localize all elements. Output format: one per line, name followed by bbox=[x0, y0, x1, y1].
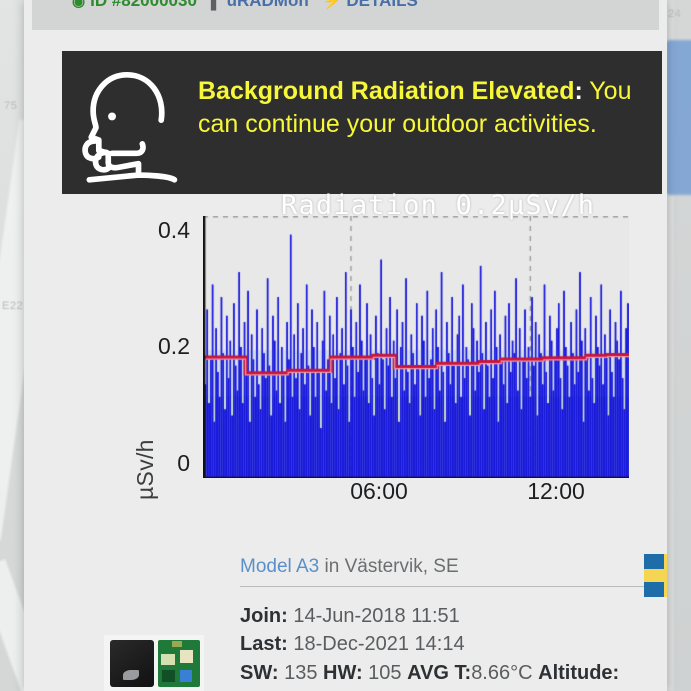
top-stats-bar: ◉ ID #82000030 ▌ uRADMon ⚡ DETAILS bbox=[32, 0, 659, 30]
chart-overlay-label: Radiation 0.2µSv/h bbox=[281, 190, 595, 221]
chart-ytick-0: 0.4 bbox=[128, 217, 190, 244]
chart-ytick-2: 0 bbox=[128, 450, 190, 477]
stat-id-label: ID #82000030 bbox=[90, 0, 197, 11]
chart-plot-canvas[interactable] bbox=[203, 216, 629, 478]
meta-row-sw-hw: SW: 135 HW: 105 AVG T:8.66°C Altitude: bbox=[240, 659, 619, 687]
last-value: 18-Dec-2021 14:14 bbox=[288, 633, 465, 655]
join-label: Join: bbox=[240, 605, 288, 627]
last-label: Last: bbox=[240, 633, 288, 655]
stat-item-device[interactable]: ▌ uRADMon bbox=[211, 0, 309, 11]
sw-label: SW: bbox=[240, 662, 279, 684]
avgt-value: 8.66°C bbox=[471, 662, 538, 684]
stat-item-details[interactable]: ⚡ DETAILS bbox=[323, 0, 418, 11]
banner-title: Background Radiation Elevated bbox=[198, 77, 574, 105]
join-value: 14-Jun-2018 11:51 bbox=[288, 605, 460, 627]
stat-device-label: uRADMon bbox=[227, 0, 309, 11]
device-metadata: Join: 14-Jun-2018 11:51 Last: 18-Dec-202… bbox=[240, 602, 619, 687]
device-thumbnail[interactable] bbox=[104, 635, 204, 691]
chart-xtick-1: 12:00 bbox=[501, 478, 611, 505]
hw-value: 105 bbox=[363, 662, 407, 684]
chart-ytick-1: 0.2 bbox=[128, 333, 190, 360]
device-title: Model A3 in Västervik, SE bbox=[240, 556, 660, 578]
bolt-icon: ⚡ bbox=[323, 0, 342, 10]
device-header: Model A3 in Västervik, SE bbox=[240, 556, 660, 587]
sweden-flag-icon bbox=[644, 554, 667, 597]
hw-label: HW: bbox=[323, 662, 363, 684]
radiation-chart[interactable]: µSv/h 0.4 0.2 0 06:00 12:00 bbox=[62, 200, 662, 520]
meta-row-last: Last: 18-Dec-2021 14:14 bbox=[240, 630, 619, 658]
head-breathing-icon bbox=[78, 65, 182, 183]
divider bbox=[240, 586, 660, 587]
sw-value: 135 bbox=[279, 662, 323, 684]
stat-item-id[interactable]: ◉ ID #82000030 bbox=[72, 0, 197, 11]
device-detail-panel: ◉ ID #82000030 ▌ uRADMon ⚡ DETAILS bbox=[24, 0, 667, 691]
banner-message: Background Radiation Elevated: You can c… bbox=[198, 65, 650, 141]
device-icon: ▌ bbox=[211, 0, 222, 10]
banner-title-colon: : bbox=[574, 77, 582, 105]
radiation-warning-banner: Background Radiation Elevated: You can c… bbox=[62, 51, 662, 194]
device-location: in Västervik, SE bbox=[319, 556, 458, 577]
meta-row-join: Join: 14-Jun-2018 11:51 bbox=[240, 602, 619, 630]
altitude-label: Altitude: bbox=[538, 662, 619, 684]
device-model-link[interactable]: Model A3 bbox=[240, 556, 319, 577]
chart-xtick-0: 06:00 bbox=[324, 478, 434, 505]
avgt-label: AVG T: bbox=[407, 662, 471, 684]
globe-icon: ◉ bbox=[72, 0, 85, 10]
stat-details-label: DETAILS bbox=[346, 0, 417, 11]
